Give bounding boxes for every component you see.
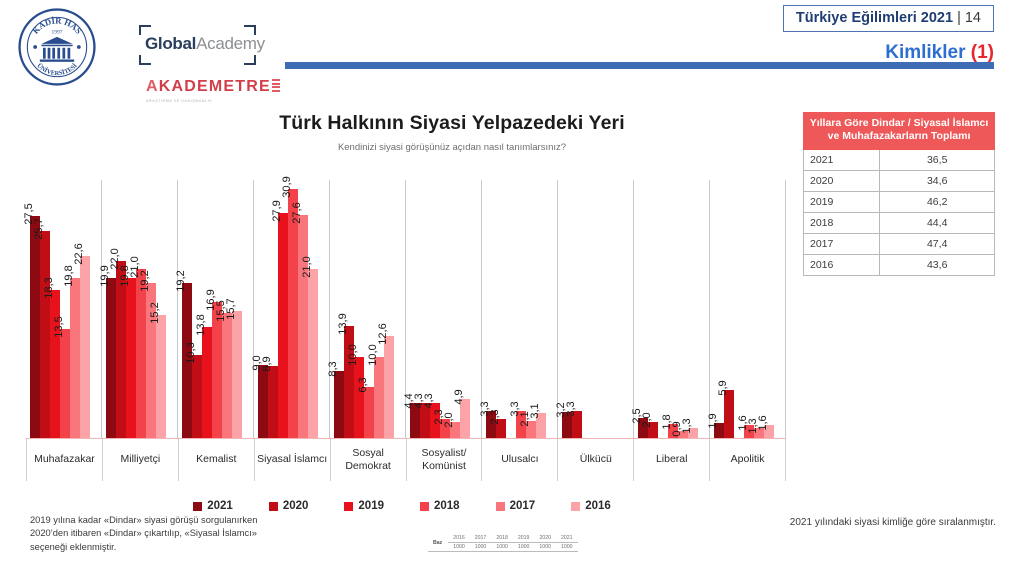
chart-bar: 13,8	[202, 327, 212, 438]
chart-bar-slot: 1,3	[754, 180, 764, 438]
base-table-header-row: Baz201620172018201920202021	[428, 534, 578, 543]
chart-bar-slot: 8,3	[334, 180, 344, 438]
legend-item[interactable]: 2016	[571, 500, 611, 512]
table-cell-value: 34,6	[880, 170, 995, 191]
report-title-text: Türkiye Eğilimleri 2021	[796, 10, 953, 26]
base-table-year: 2021	[556, 534, 578, 543]
chart-bar-slot: 25,7	[40, 180, 50, 438]
chart-bar-value-label: 1,6	[757, 415, 769, 430]
chart-bar: 10,3	[192, 355, 202, 438]
table-row: 201946,2	[804, 191, 995, 212]
chart-bar-slot: 10,0	[374, 180, 384, 438]
chart-bar-slot	[582, 180, 592, 438]
x-axis-label: Ülkücü	[558, 439, 634, 481]
chart-bar: 1,6	[764, 425, 774, 438]
chart-bar-value-label: 22,6	[73, 243, 85, 264]
chart-bar: 1,9	[714, 423, 724, 438]
chart-bar-slot	[506, 180, 516, 438]
chart-bar-value-label: 12,6	[377, 324, 389, 345]
chart-bar-value-label: 5,9	[717, 381, 729, 396]
chart-bar-slot: 4,9	[460, 180, 470, 438]
table-row: 202034,6	[804, 170, 995, 191]
chart-bar: 8,3	[334, 371, 344, 438]
chart-bar-slot: 22,0	[116, 180, 126, 438]
chart-group: 3,32,33,32,13,1	[482, 180, 558, 438]
chart-bar: 21,0	[308, 269, 318, 438]
base-table-year: 2017	[470, 534, 492, 543]
chart-bar-slot: 1,3	[688, 180, 698, 438]
chart-group: 9,08,927,930,927,621,0	[254, 180, 330, 438]
base-table-value: 1000	[534, 543, 556, 552]
chart-group: 4,44,34,32,32,04,9	[406, 180, 482, 438]
x-axis-label: Siyasal İslamcı	[255, 439, 331, 481]
chart-bar-slot: 1,6	[764, 180, 774, 438]
chart-bar: 2,3	[496, 419, 506, 438]
chart-bar-slot: 15,2	[156, 180, 166, 438]
bracket-top-right-icon	[244, 25, 256, 35]
chart-bar-slot: 12,6	[384, 180, 394, 438]
chart-bar: 16,9	[212, 302, 222, 438]
chart-bar-slot	[592, 180, 602, 438]
chart-bar-value-label: 10,0	[347, 345, 359, 366]
chart-bar: 25,7	[40, 231, 50, 438]
chart-bar-slot: 21,0	[308, 180, 318, 438]
report-page-number: | 14	[957, 10, 981, 26]
chart-bar-value-label: 25,7	[33, 218, 45, 239]
base-table-year: 2018	[491, 534, 513, 543]
chart-bar: 19,9	[106, 278, 116, 438]
footnote-left: 2019 yılına kadar «Dindar» siyasi görüşü…	[30, 514, 285, 554]
chart-bar-slot: 9,0	[258, 180, 268, 438]
chart-bar-value-label: 3,3	[565, 402, 577, 417]
chart-bar-value-label: 6,3	[357, 378, 369, 393]
chart-bar-slot: 2,0	[648, 180, 658, 438]
section-subtitle-main: Kimlikler	[885, 42, 965, 63]
akademetre-a-text: A	[146, 78, 159, 95]
chart-bar-slot: 2,3	[496, 180, 506, 438]
x-axis-label: Sosyal Demokrat	[331, 439, 407, 481]
table-cell-year: 2019	[804, 191, 880, 212]
chart-bar-value-label: 2,0	[641, 412, 653, 427]
chart-bar: 15,2	[156, 315, 166, 438]
base-table-value: 1000	[513, 543, 535, 552]
chart-bar-slot: 3,3	[516, 180, 526, 438]
table-cell-value: 47,4	[880, 233, 995, 254]
legend-label: 2020	[283, 500, 309, 512]
chart-bar: 4,9	[460, 399, 470, 439]
table-row: 202136,5	[804, 149, 995, 170]
chart-bar-slot: 0,9	[678, 180, 688, 438]
base-table-value: 1000	[448, 543, 470, 552]
bracket-bottom-left-icon	[139, 55, 151, 65]
chart-bar-value-label: 15,2	[149, 303, 161, 324]
legend-label: 2017	[510, 500, 536, 512]
chart-bar-slot: 15,7	[232, 180, 242, 438]
bracket-bottom-right-icon	[244, 55, 256, 65]
global-academy-bold-text: Global	[145, 34, 196, 53]
legend-swatch-icon	[193, 502, 202, 511]
page-header: KADİR HAS ÜNİVERSİTESİ 1997 GlobalAcadem…	[0, 0, 1024, 80]
base-table-value-row: 100010001000100010001000	[428, 543, 578, 552]
chart-bar-value-label: 19,2	[175, 270, 187, 291]
x-axis-label: Apolitik	[710, 439, 786, 481]
chart-bar-value-label: 2,0	[443, 412, 455, 427]
legend-swatch-icon	[269, 502, 278, 511]
chart-bar-slot: 3,2	[562, 180, 572, 438]
chart-bar-value-label: 30,9	[281, 176, 293, 197]
legend-label: 2019	[358, 500, 384, 512]
akademetre-logo: AKADEMETRE ARAŞTIRMA VE DANIŞMANLIK	[146, 78, 271, 103]
chart-group: 27,525,718,313,519,822,6	[26, 180, 102, 438]
chart-bar: 18,3	[50, 290, 60, 438]
chart-bar: 9,0	[258, 365, 268, 438]
chart-bar-value-label: 10,0	[367, 345, 379, 366]
chart-bar-slot: 21,0	[136, 180, 146, 438]
chart-bar: 1,3	[688, 428, 698, 438]
chart-bar-value-label: 27,9	[271, 200, 283, 221]
chart-bar-value-label: 10,3	[185, 342, 197, 363]
chart-bar: 19,8	[126, 278, 136, 438]
chart-bar-value-label: 8,9	[261, 357, 273, 372]
chart-bar-value-label: 19,2	[139, 270, 151, 291]
legend-item[interactable]: 2018	[420, 500, 460, 512]
chart-bar: 30,9	[288, 189, 298, 438]
chart-bar-value-label: 8,3	[327, 361, 339, 376]
chart-group: 19,922,019,821,019,215,2	[102, 180, 178, 438]
chart-bar-slot: 5,9	[724, 180, 734, 438]
chart-bar: 13,5	[60, 329, 70, 438]
legend-label: 2016	[585, 500, 611, 512]
chart-bar-slot: 3,1	[536, 180, 546, 438]
chart-bar-slot: 13,5	[60, 180, 70, 438]
table-cell-value: 44,4	[880, 212, 995, 233]
base-table-year: 2019	[513, 534, 535, 543]
chart-bar-slot: 2,5	[638, 180, 648, 438]
chart-bar: 2,0	[450, 422, 460, 438]
global-academy-light-text: Academy	[196, 34, 265, 53]
table-cell-value: 46,2	[880, 191, 995, 212]
legend-label: 2021	[207, 500, 233, 512]
x-axis-label: Muhafazakar	[26, 439, 103, 481]
chart-bar-slot: 4,3	[430, 180, 440, 438]
chart-bar: 2,0	[648, 422, 658, 438]
table-cell-year: 2020	[804, 170, 880, 191]
report-title-box: Türkiye Eğilimleri 2021 | 14	[783, 5, 994, 32]
legend-label: 2018	[434, 500, 460, 512]
chart-bar-value-label: 27,6	[291, 203, 303, 224]
base-table-value: 1000	[556, 543, 578, 552]
x-axis-label: Sosyalist/ Komünist	[407, 439, 483, 481]
chart-bar-value-label: 13,5	[53, 316, 65, 337]
yearly-totals-table-header: Yıllara Göre Dindar / Siyasal İslamcı ve…	[804, 113, 995, 150]
chart-bar-slot: 22,6	[80, 180, 90, 438]
chart-bar-value-label: 13,8	[195, 314, 207, 335]
bracket-top-left-icon	[139, 25, 151, 35]
chart-bar-slot: 3,3	[572, 180, 582, 438]
chart-bar-value-label: 4,9	[453, 389, 465, 404]
legend-swatch-icon	[571, 502, 580, 511]
legend-swatch-icon	[344, 502, 353, 511]
chart-bar: 12,6	[384, 336, 394, 438]
chart-bar: 10,0	[374, 357, 384, 438]
table-cell-year: 2021	[804, 149, 880, 170]
chart-bar-slot: 19,2	[182, 180, 192, 438]
akademetre-tagline: ARAŞTIRMA VE DANIŞMANLIK	[146, 99, 271, 103]
base-table-year: 2020	[534, 534, 556, 543]
table-cell-year: 2016	[804, 254, 880, 275]
kadir-has-university-seal-icon: KADİR HAS ÜNİVERSİTESİ 1997	[18, 8, 96, 86]
legend-item[interactable]: 2019	[344, 500, 384, 512]
chart-bar: 27,5	[30, 216, 40, 438]
x-axis-label: Kemalist	[179, 439, 255, 481]
chart-bar: 3,1	[536, 413, 546, 438]
section-subtitle-index: (1)	[971, 42, 994, 63]
chart-bar-value-label: 21,0	[301, 256, 313, 277]
legend-swatch-icon	[420, 502, 429, 511]
yearly-totals-table: Yıllara Göre Dindar / Siyasal İslamcı ve…	[803, 112, 995, 276]
chart-bar-value-label: 1,9	[707, 413, 719, 428]
table-row: 201747,4	[804, 233, 995, 254]
chart-bar: 10,0	[354, 357, 364, 438]
chart-bar-slot: 3,3	[486, 180, 496, 438]
chart-x-axis-labels: MuhafazakarMilliyetçiKemalistSiyasal İsl…	[26, 439, 786, 481]
chart-bar-value-label: 4,3	[423, 394, 435, 409]
chart-bar-slot: 19,8	[70, 180, 80, 438]
section-subtitle: Kimlikler (1)	[885, 42, 994, 64]
chart-bar-slot: 10,0	[354, 180, 364, 438]
legend-item[interactable]: 2017	[496, 500, 536, 512]
chart-group: 8,313,910,06,310,012,6	[330, 180, 406, 438]
chart-bar-slot: 27,6	[298, 180, 308, 438]
chart-bar-slot: 1,9	[714, 180, 724, 438]
chart-group: 1,95,91,61,31,6	[710, 180, 786, 438]
base-sample-table: Baz2016201720182019202020211000100010001…	[428, 534, 578, 552]
base-table-label: Baz	[428, 534, 448, 552]
x-axis-label: Liberal	[634, 439, 710, 481]
chart-bar-slot: 13,9	[344, 180, 354, 438]
base-table-value: 1000	[470, 543, 492, 552]
chart-bar: 13,9	[344, 326, 354, 438]
chart-bar: 27,9	[278, 213, 288, 438]
chart-bar-slot: 1,6	[744, 180, 754, 438]
legend-swatch-icon	[496, 502, 505, 511]
table-cell-year: 2017	[804, 233, 880, 254]
chart-bar-slot: 1,8	[668, 180, 678, 438]
chart-plot-area: 27,525,718,313,519,822,619,922,019,821,0…	[26, 180, 786, 438]
chart-bar: 5,9	[724, 390, 734, 438]
chart-bar-slot	[612, 180, 622, 438]
legend-item[interactable]: 2021	[193, 500, 233, 512]
chart-bar: 6,3	[364, 387, 374, 438]
chart-bar-slot: 19,8	[126, 180, 136, 438]
bar-chart: 27,525,718,313,519,822,619,922,019,821,0…	[26, 180, 786, 438]
table-cell-value: 43,6	[880, 254, 995, 275]
chart-bar: 27,6	[298, 215, 308, 438]
chart-bar: 8,9	[268, 366, 278, 438]
chart-group: 3,23,3	[558, 180, 634, 438]
table-row: 201844,4	[804, 212, 995, 233]
chart-bar-slot	[734, 180, 744, 438]
chart-bar-slot: 6,3	[364, 180, 374, 438]
chart-bar-slot: 10,3	[192, 180, 202, 438]
chart-group: 2,52,01,80,91,3	[634, 180, 710, 438]
chart-bar-value-label: 1,3	[681, 418, 693, 433]
chart-bar-slot	[602, 180, 612, 438]
chart-bar-slot: 19,9	[106, 180, 116, 438]
chart-bar-value-label: 3,1	[529, 403, 541, 418]
table-row: 201643,6	[804, 254, 995, 275]
chart-legend: 202120202019201820172016	[0, 500, 914, 512]
chart-bar-slot: 27,9	[278, 180, 288, 438]
chart-group: 19,210,313,816,915,515,7	[178, 180, 254, 438]
chart-bar: 15,5	[222, 313, 232, 438]
chart-bar: 22,6	[80, 256, 90, 438]
chart-bar-value-label: 19,8	[63, 266, 75, 287]
chart-bar-value-label: 18,3	[43, 278, 55, 299]
global-academy-logo: GlobalAcademy	[145, 34, 265, 60]
chart-bar-value-label: 13,9	[337, 313, 349, 334]
footnote-right: 2021 yılındaki siyasi kimliğe göre sıral…	[766, 516, 996, 531]
chart-bar-slot	[658, 180, 668, 438]
chart-bar: 3,3	[572, 411, 582, 438]
x-axis-label: Milliyetçi	[103, 439, 179, 481]
chart-bar-slot: 2,1	[526, 180, 536, 438]
x-axis-label: Ulusalcı	[482, 439, 558, 481]
chart-bar: 21,0	[136, 269, 146, 438]
header-divider	[285, 62, 994, 69]
chart-bar: 2,1	[526, 421, 536, 438]
svg-text:1997: 1997	[52, 30, 63, 36]
base-table-value: 1000	[491, 543, 513, 552]
chart-bar-slot: 18,3	[50, 180, 60, 438]
table-cell-year: 2018	[804, 212, 880, 233]
table-cell-value: 36,5	[880, 149, 995, 170]
base-table-year: 2016	[448, 534, 470, 543]
akademetre-k-text: KADEMETRE	[159, 78, 271, 95]
chart-bar: 19,8	[70, 278, 80, 438]
chart-bar-value-label: 15,7	[225, 299, 237, 320]
chart-bar: 22,0	[116, 261, 126, 438]
chart-bar-slot: 2,3	[440, 180, 450, 438]
chart-bar-value-label: 2,3	[489, 410, 501, 425]
chart-bar: 15,7	[232, 311, 242, 438]
akademetre-bars-icon	[272, 79, 280, 93]
legend-item[interactable]: 2020	[269, 500, 309, 512]
